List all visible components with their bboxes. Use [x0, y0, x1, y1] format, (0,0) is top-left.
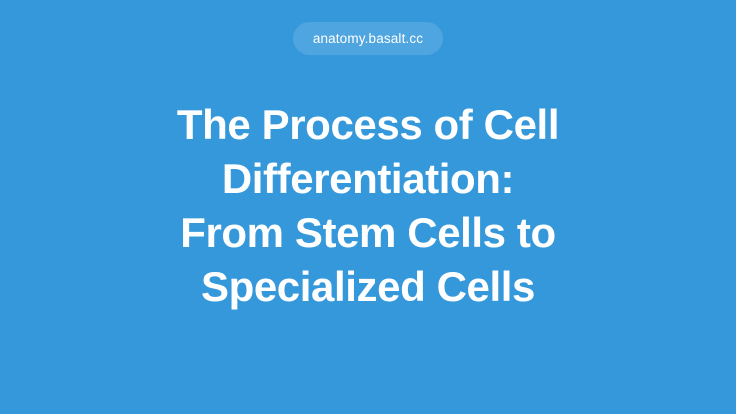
page-title: The Process of Cell Differentiation: Fro…	[88, 98, 648, 314]
badge-row: anatomy.basalt.cc	[0, 22, 736, 55]
title-line-1: The Process of Cell	[88, 98, 648, 152]
title-line-4: Specialized Cells	[88, 260, 648, 314]
title-line-3: From Stem Cells to	[88, 206, 648, 260]
title-card: anatomy.basalt.cc The Process of Cell Di…	[0, 0, 736, 414]
headline-wrap: The Process of Cell Differentiation: Fro…	[0, 55, 736, 414]
title-line-2: Differentiation:	[88, 152, 648, 206]
site-domain-badge[interactable]: anatomy.basalt.cc	[293, 22, 443, 55]
